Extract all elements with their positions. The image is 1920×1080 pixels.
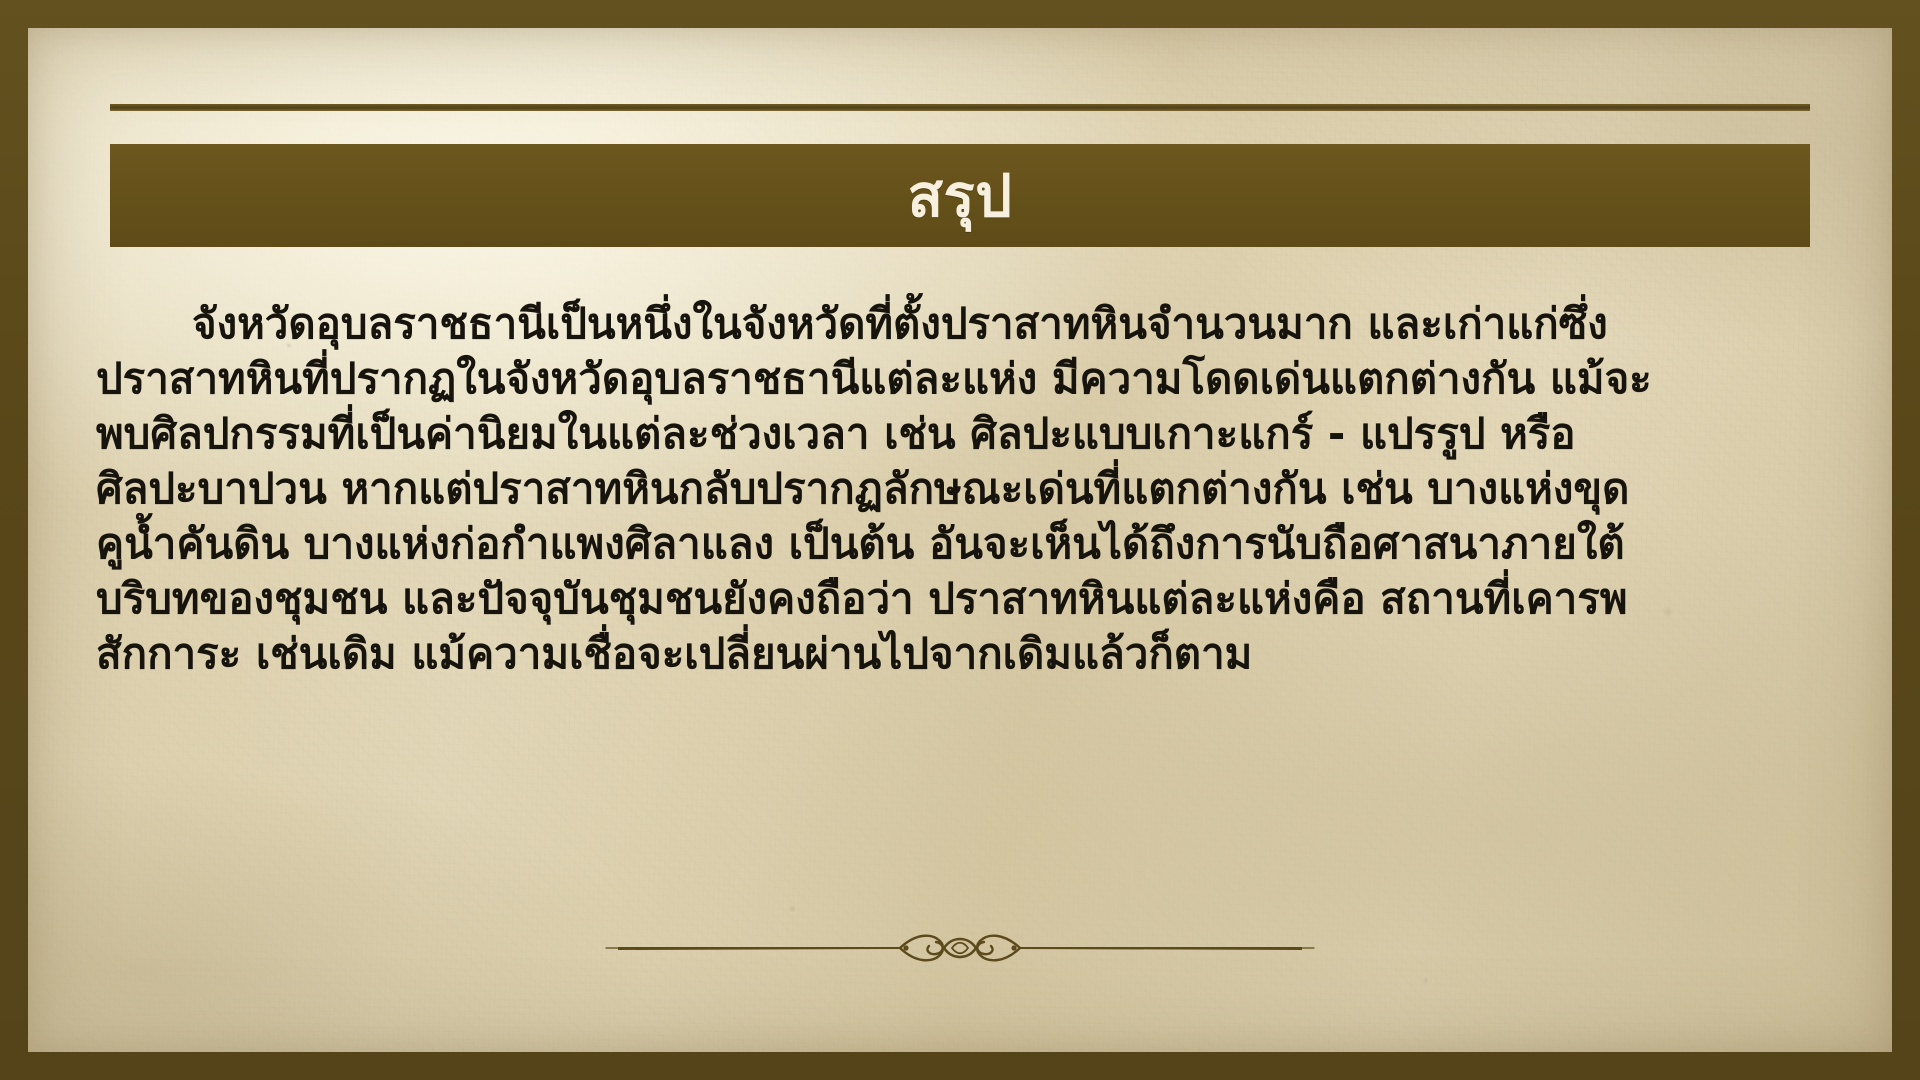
body-line: ปราสาทหินที่ปรากฏในจังหวัดอุบลราชธานีแต่… <box>96 351 1826 406</box>
body-line: พบศิลปกรรมที่เป็นค่านิยมในแต่ละช่วงเวลา … <box>96 406 1826 461</box>
body-line: จังหวัดอุบลราชธานีเป็นหนึ่งในจังหวัดที่ต… <box>96 296 1826 351</box>
header-divider-rule <box>110 104 1810 111</box>
flourish-divider-ornament <box>600 915 1320 979</box>
slide-content: สรุป จังหวัดอุบลราชธานีเป็นหนึ่งในจังหวั… <box>0 0 1920 1080</box>
body-line: สักการะ เช่นเดิม แม้ความเชื่อจะเปลี่ยนผ่… <box>96 626 1826 681</box>
presentation-slide: สรุป จังหวัดอุบลราชธานีเป็นหนึ่งในจังหวั… <box>0 0 1920 1080</box>
body-line: บริบทของชุมชน และปัจจุบันชุมชนยังคงถือว่… <box>96 571 1826 626</box>
body-paragraph: จังหวัดอุบลราชธานีเป็นหนึ่งในจังหวัดที่ต… <box>96 296 1826 681</box>
body-line: ศิลปะบาปวน หากแต่ปราสาทหินกลับปรากฏลักษณ… <box>96 461 1826 516</box>
title-banner: สรุป <box>110 144 1810 247</box>
body-line: คูน้ำคันดิน บางแห่งก่อกำแพงศิลาแลง เป็นต… <box>96 516 1826 571</box>
page-title: สรุป <box>908 167 1013 225</box>
